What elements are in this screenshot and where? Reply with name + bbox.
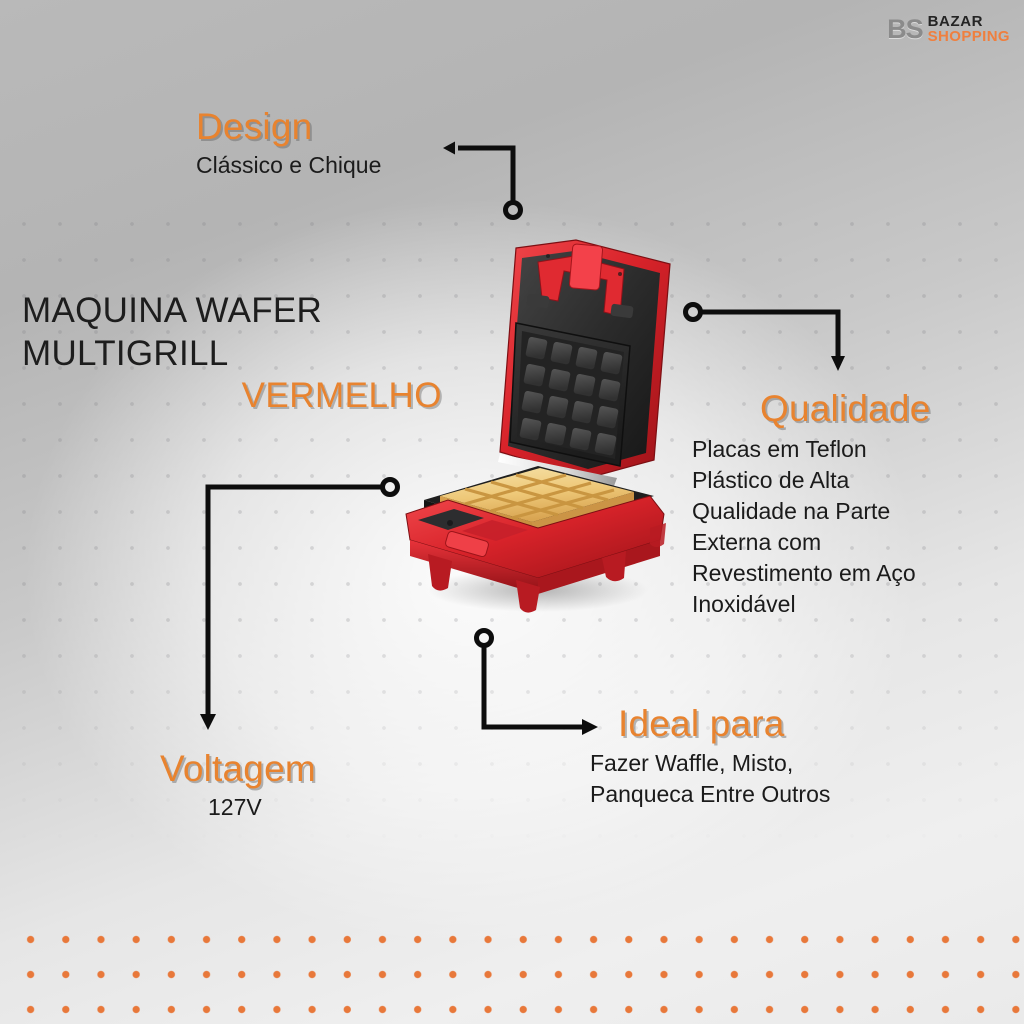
connector-qualidade: [686, 305, 846, 372]
connector-ideal-para: [477, 631, 599, 736]
brand-monogram: BS: [887, 16, 923, 43]
lid-cooking-plate: [510, 323, 630, 466]
title-line-3-color: VERMELHO: [22, 375, 442, 418]
page-title: MAQUINA WAFER MULTIGRILL VERMELHO: [22, 290, 442, 418]
feature-heading-design: Design: [196, 106, 312, 148]
background-dot-grid-orange: [0, 915, 1024, 1024]
brand-wordmark: BAZAR SHOPPING: [928, 14, 1010, 45]
feature-heading-qualidade: Qualidade: [760, 388, 931, 430]
brand-name-top: BAZAR: [928, 14, 1010, 29]
feature-body-voltagem: 127V: [208, 792, 408, 823]
feature-body-ideal-para: Fazer Waffle, Misto, Panqueca Entre Outr…: [590, 748, 920, 810]
title-line-2: MULTIGRILL: [22, 333, 442, 376]
brand-name-bottom: SHOPPING: [928, 29, 1010, 44]
product-lid: [498, 240, 670, 486]
title-line-1: MAQUINA WAFER: [22, 291, 322, 330]
indicator-light: [447, 520, 453, 526]
feature-body-qualidade: Placas em Teflon Plástico de Alta Qualid…: [692, 434, 992, 620]
feature-heading-ideal-para: Ideal para: [618, 703, 785, 745]
infographic-canvas: BS BAZAR SHOPPING MAQUINA WAFER MULTIGRI…: [0, 0, 1024, 1024]
brand-logo: BS BAZAR SHOPPING: [887, 14, 1010, 45]
feature-body-design: Clássico e Chique: [196, 150, 496, 181]
lid-latch-clip: [569, 244, 603, 290]
connector-voltagem: [200, 480, 398, 731]
product-image-waffle-maker: [388, 228, 688, 618]
feature-heading-voltagem: Voltagem: [160, 748, 316, 790]
